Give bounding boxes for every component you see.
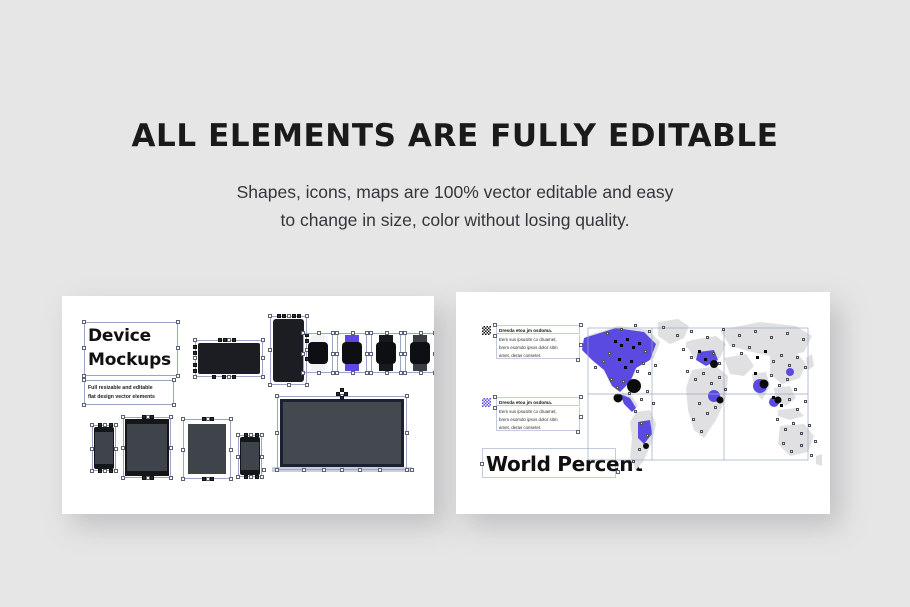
legend-title-2: Dresda etoa jm osdoma. xyxy=(496,397,580,406)
legend-item-1[interactable]: Dresda etoa jm osdoma. Eem sus ipsusitn … xyxy=(482,325,582,361)
legend-item-2[interactable]: Dresda etoa jm osdoma. Eem sus ipsusitn … xyxy=(482,397,582,433)
laptop-selection-box[interactable] xyxy=(277,396,407,470)
legend-body-1-line-2: brem esomdo ipsos dolor sitm xyxy=(499,344,577,352)
device-title-line-2: Mockups xyxy=(88,348,176,372)
legend-body-2: Eem sus ipsusitn co druamet, brem esomdo… xyxy=(496,407,580,431)
device-title-line-1: Device xyxy=(88,324,176,348)
smartwatch-black-selection-box[interactable] xyxy=(371,333,401,373)
device-mockups-subtitle: Full resizable and editable flat design … xyxy=(86,382,172,403)
world-map[interactable] xyxy=(574,314,824,494)
phone-small-left-selection-box[interactable] xyxy=(92,425,116,471)
device-subtitle-line-1: Full resizable and editable xyxy=(88,384,172,393)
legend-swatch-1 xyxy=(482,326,491,335)
legend-swatch-2 xyxy=(482,398,491,407)
page-subtitle-line-1: Shapes, icons, maps are 100% vector edit… xyxy=(237,182,674,202)
page-subtitle: Shapes, icons, maps are 100% vector edit… xyxy=(0,178,910,234)
device-subtitle-line-2: flat design vector elements xyxy=(88,393,172,402)
phone-small-right-selection-box[interactable] xyxy=(238,435,262,477)
legend-title-1: Dresda etoa jm osdoma. xyxy=(496,325,580,334)
smartwatch-gray-selection-box[interactable] xyxy=(405,333,434,373)
world-percent-card[interactable]: Dresda etoa jm osdoma. Eem sus ipsusitn … xyxy=(456,292,830,514)
page-title: ALL ELEMENTS ARE FULLY EDITABLE xyxy=(0,118,910,154)
monitor-portrait-1-selection-box[interactable] xyxy=(123,417,171,478)
smartwatch-white-selection-box[interactable] xyxy=(303,333,333,373)
legend-body-2-line-2: brem esomdo ipsos dolor sitm xyxy=(499,416,577,424)
device-mockups-title: Device Mockups xyxy=(86,324,176,374)
legend-body-1-line-1: Eem sus ipsusitn co druamet, xyxy=(499,336,577,344)
smartwatch-purple-selection-box[interactable] xyxy=(337,333,367,373)
legend-body-1: Eem sus ipsusitn co druamet, brem esomdo… xyxy=(496,335,580,359)
legend-body-1-line-3: amet, deras consetet. xyxy=(499,352,577,360)
device-mockups-card[interactable]: Device Mockups Full resizable and editab… xyxy=(62,296,434,514)
tablet-landscape-selection-box[interactable] xyxy=(195,340,263,377)
legend-body-2-line-3: amet, deras consetet. xyxy=(499,424,577,432)
page-subtitle-line-2: to change in size, color without losing … xyxy=(0,206,910,234)
monitor-portrait-2-selection-box[interactable] xyxy=(183,419,231,479)
legend-body-2-line-1: Eem sus ipsusitn co druamet, xyxy=(499,408,577,416)
